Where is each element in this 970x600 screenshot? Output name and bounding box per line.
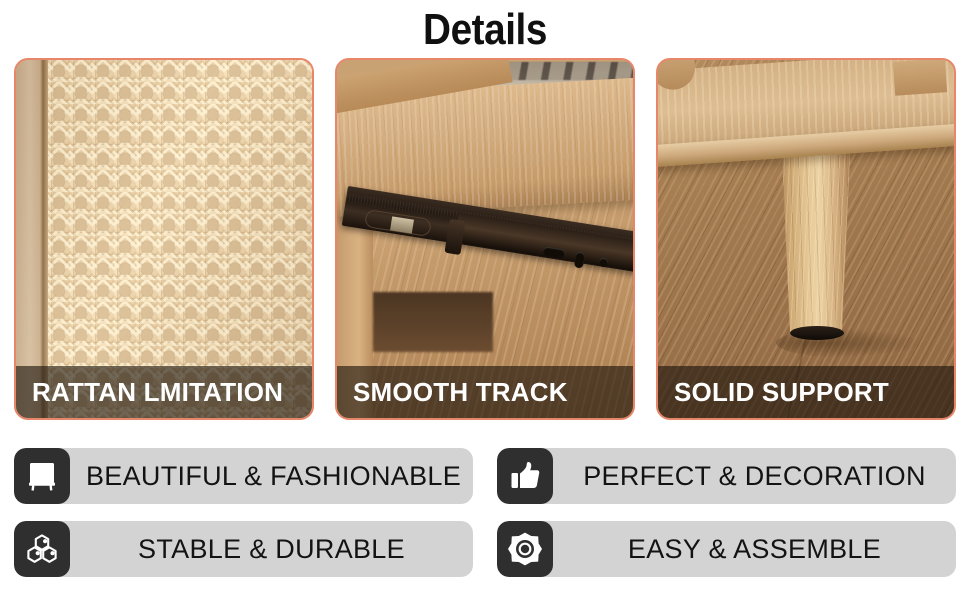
feature-badge-label: PERFECT & DECORATION xyxy=(553,463,956,490)
detail-panel-support: SOLID SUPPORT xyxy=(656,58,956,420)
feature-badge-label: EASY & ASSEMBLE xyxy=(553,536,956,563)
feature-badge-perfect-decoration[interactable]: PERFECT & DECORATION xyxy=(497,448,956,504)
feature-badge-easy-assemble[interactable]: EASY & ASSEMBLE xyxy=(497,521,956,577)
feature-badge-label: STABLE & DURABLE xyxy=(70,536,473,563)
panel-caption-label: SOLID SUPPORT xyxy=(674,379,889,405)
detail-panel-track: SMOOTH TRACK xyxy=(335,58,635,420)
shelf-rounded-corner xyxy=(658,60,696,91)
feature-badge-label: BEAUTIFUL & FASHIONABLE xyxy=(70,463,473,490)
thumbs-up-icon xyxy=(497,448,553,504)
panel-caption-label: RATTAN LMITATION xyxy=(32,379,283,405)
detail-panel-row: RATTAN LMITATION SMOOTH TRACK xyxy=(0,58,970,430)
panel-caption-bar: RATTAN LMITATION xyxy=(16,366,312,418)
cabinet-icon xyxy=(14,448,70,504)
cabinet-cavity xyxy=(373,292,493,352)
furniture-leg xyxy=(780,142,852,334)
cabinet-corner-block xyxy=(893,60,947,96)
detail-panel-rattan: RATTAN LMITATION xyxy=(14,58,314,420)
feature-badge-stable-durable[interactable]: STABLE & DURABLE xyxy=(14,521,473,577)
rattan-weave-photo xyxy=(16,60,312,418)
feature-badge-grid: BEAUTIFUL & FASHIONABLE PERFECT & DECORA… xyxy=(0,440,970,600)
panel-caption-bar: SOLID SUPPORT xyxy=(658,366,954,418)
leg-foot-cap xyxy=(790,326,844,340)
page-title: Details xyxy=(58,0,912,58)
panel-caption-bar: SMOOTH TRACK xyxy=(337,366,633,418)
drawer-slide-photo xyxy=(337,60,633,418)
feature-badge-beautiful-fashionable[interactable]: BEAUTIFUL & FASHIONABLE xyxy=(14,448,473,504)
wood-leg-photo xyxy=(658,60,954,418)
panel-caption-label: SMOOTH TRACK xyxy=(353,379,568,405)
gear-icon xyxy=(497,521,553,577)
molecule-hexagons-icon xyxy=(14,521,70,577)
rattan-lighting-overlay xyxy=(16,60,312,418)
